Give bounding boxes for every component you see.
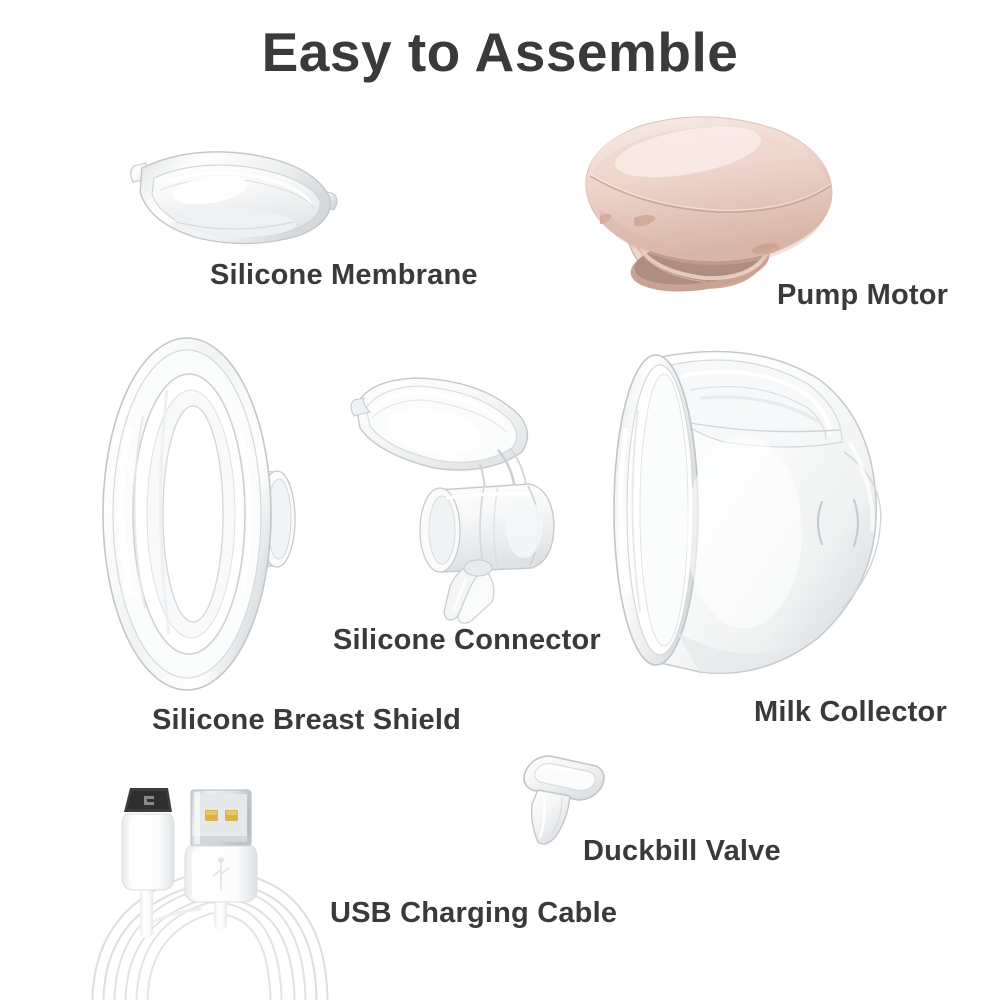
- label-milk-collector: Milk Collector: [754, 696, 947, 729]
- micro-usb-connector-icon: [122, 788, 174, 890]
- label-duckbill-valve: Duckbill Valve: [583, 835, 781, 868]
- label-silicone-membrane: Silicone Membrane: [210, 259, 478, 292]
- label-usb-charging-cable: USB Charging Cable: [330, 897, 617, 930]
- usb-charging-cable-part: [60, 778, 370, 1000]
- silicone-membrane-part: [128, 138, 340, 258]
- label-silicone-breast-shield: Silicone Breast Shield: [152, 704, 461, 737]
- silicone-breast-shield-part: [95, 332, 345, 696]
- milk-collector-part: [604, 332, 900, 688]
- page-title: Easy to Assemble: [0, 22, 1000, 83]
- label-silicone-connector: Silicone Connector: [333, 624, 601, 657]
- product-diagram-canvas: Easy to Assemble: [0, 0, 1000, 1000]
- pump-motor-part: [578, 112, 842, 294]
- silicone-connector-part: [352, 372, 582, 626]
- usb-a-connector-icon: [185, 790, 257, 902]
- label-pump-motor: Pump Motor: [777, 279, 948, 312]
